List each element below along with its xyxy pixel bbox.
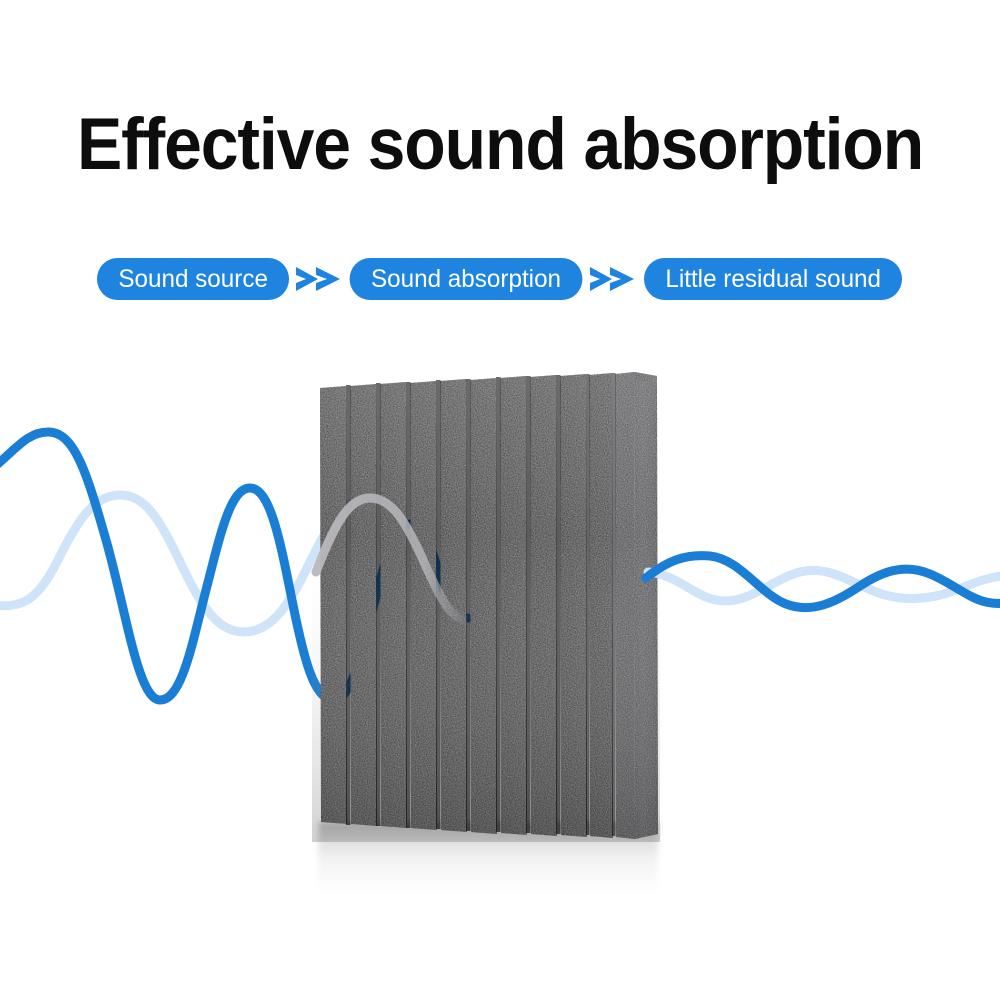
flow-step-little-residual-sound[interactable]: Little residual sound xyxy=(644,258,902,300)
double-chevron-right-icon xyxy=(292,258,346,300)
sound-wave-faint-outgoing xyxy=(648,570,1000,601)
sound-wave-strong-outgoing xyxy=(646,556,1000,608)
flow-step-sound-source[interactable]: Sound source xyxy=(97,258,289,300)
promo-graphic: Effective sound absorption Sound source … xyxy=(0,0,1000,1000)
flow-steps: Sound source Sound absorption Little res… xyxy=(0,255,1000,303)
double-chevron-right-icon xyxy=(586,258,640,300)
flow-step-label: Little residual sound xyxy=(665,267,881,292)
foam-shading-overlay xyxy=(312,372,660,842)
flow-step-label: Sound absorption xyxy=(371,267,561,292)
flow-step-label: Sound source xyxy=(118,267,268,292)
flow-step-sound-absorption[interactable]: Sound absorption xyxy=(350,258,583,300)
acoustic-foam-panel xyxy=(312,372,660,842)
page-title: Effective sound absorption xyxy=(35,103,965,187)
